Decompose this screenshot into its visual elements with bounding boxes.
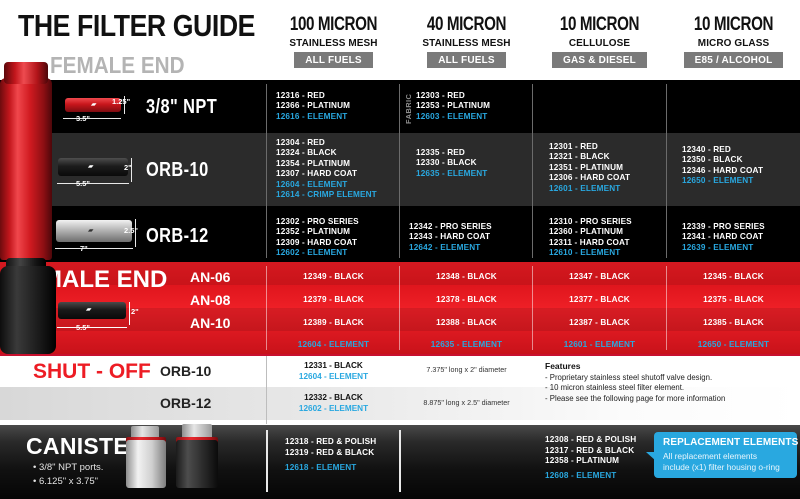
column-divider (266, 356, 267, 424)
part-number: 12360 - PLATINUM (549, 227, 682, 237)
female-end-section: 3/8" NPT ORB-10 ORB-12 FABRIC 12316 - RE… (0, 80, 800, 262)
part-number: 12316 - RED (276, 91, 409, 101)
male-element-3: 12650 - ELEMENT (667, 340, 800, 349)
column-micron: 10 MICRON (546, 14, 652, 36)
part-number: 12308 - RED & POLISH (545, 435, 636, 446)
row-label-shutoff-orb10: ORB-10 (160, 363, 211, 379)
part-number: 12351 - PLATINUM (549, 163, 682, 173)
column-divider (266, 430, 268, 492)
male-part-2-0: 12389 - BLACK (267, 318, 400, 327)
product-photo-canister-black (176, 440, 218, 488)
male-part-0-0: 12349 - BLACK (267, 272, 400, 281)
section-title-shutoff: SHUT - OFF (33, 360, 151, 384)
column-fuel-badge: E85 / ALCOHOL (684, 52, 784, 68)
callout-body: All replacement elements include (x1) fi… (663, 451, 780, 472)
features-block: Features - Proprietary stainless steel s… (545, 361, 725, 404)
part-cell-orb10-100: 12304 - RED 12324 - BLACK 12354 - PLATIN… (276, 138, 409, 200)
part-number-element: 12604 - ELEMENT (267, 372, 400, 383)
part-number: 12330 - BLACK (416, 158, 549, 168)
filter-image-orb10: ▰ (58, 158, 128, 176)
part-number: 12309 - HARD COAT (276, 238, 409, 248)
replacement-elements-callout: REPLACEMENT ELEMENTS All replacement ele… (654, 432, 797, 478)
dimension-diameter-orb12: 2.5" (124, 226, 138, 235)
aeromotive-logo-icon: ▰ (86, 306, 91, 313)
aeromotive-logo-icon: ▰ (88, 227, 93, 234)
part-number: 12358 - PLATINUM (545, 456, 636, 467)
column-fuel-badge: ALL FUELS (427, 52, 506, 68)
product-photo-female-cap (4, 62, 48, 84)
dimension-diameter-male: 2" (131, 307, 139, 316)
row-label-orb10: ORB-10 (146, 159, 209, 182)
header: THE FILTER GUIDE FEMALE END 100 MICRON S… (0, 0, 800, 80)
column-media: MICRO GLASS (670, 37, 796, 49)
part-cell-orb12-10cell: 12310 - PRO SERIES 12360 - PLATINUM 1231… (549, 217, 682, 259)
part-number-element: 12604 - ELEMENT (276, 180, 409, 190)
row-label-shutoff-orb12: ORB-12 (160, 395, 211, 411)
product-photo-female-bottle (0, 78, 52, 260)
part-number: 12341 - HARD COAT (682, 232, 800, 242)
part-number: 12302 - PRO SERIES (276, 217, 409, 227)
part-number: 12335 - RED (416, 148, 549, 158)
part-cell-orb10-10glass: 12340 - RED 12350 - BLACK 12346 - HARD C… (682, 145, 800, 187)
row-label-orb12: ORB-12 (146, 225, 209, 248)
part-number: 12342 - PRO SERIES (409, 222, 542, 232)
column-media: STAINLESS MESH (270, 37, 396, 49)
feature-item: - Please see the following page for more… (545, 394, 725, 405)
column-media: STAINLESS MESH (403, 37, 529, 49)
part-number: 12307 - HARD COAT (276, 169, 409, 179)
section-title-male-end: MALE END (42, 266, 167, 294)
part-cell-orb12-40: 12342 - PRO SERIES 12343 - HARD COAT 126… (409, 222, 542, 253)
part-number-element: 12602 - ELEMENT (267, 404, 400, 415)
part-number: 12339 - PRO SERIES (682, 222, 800, 232)
page-title: THE FILTER GUIDE (18, 8, 255, 44)
shutoff-section: SHUT - OFF ORB-10 ORB-12 12331 - BLACK 1… (0, 354, 800, 425)
male-element-0: 12604 - ELEMENT (267, 340, 400, 349)
part-cell-orb10-10cell: 12301 - RED 12321 - BLACK 12351 - PLATIN… (549, 142, 682, 194)
dimension-line (55, 248, 133, 249)
part-number-element: 12601 - ELEMENT (549, 184, 682, 194)
shutoff-dimension-orb10: 7.375" long x 2" diameter (400, 365, 533, 374)
part-number-element: 12602 - ELEMENT (276, 248, 409, 258)
part-number: 12301 - RED (549, 142, 682, 152)
section-title-female-end: FEMALE END (50, 52, 185, 79)
part-number: 12321 - BLACK (549, 152, 682, 162)
feature-item: - Proprietary stainless steel shutoff va… (545, 373, 725, 384)
column-fuel-badge: GAS & DIESEL (552, 52, 647, 68)
male-part-2-1: 12388 - BLACK (400, 318, 533, 327)
column-micron: 10 MICRON (680, 14, 786, 36)
male-part-1-1: 12378 - BLACK (400, 295, 533, 304)
part-number: 12346 - HARD COAT (682, 166, 800, 176)
feature-item: - 10 micron stainless steel filter eleme… (545, 383, 725, 394)
part-number-element: 12616 - ELEMENT (276, 112, 409, 122)
part-number: 12352 - PLATINUM (276, 227, 409, 237)
aeromotive-logo-icon: ▰ (91, 101, 96, 108)
section-divider-red (0, 354, 800, 356)
features-title: Features (545, 361, 725, 371)
part-number-element: 12614 - CRIMP ELEMENT (276, 190, 409, 200)
column-header-3: 10 MICRON MICRO GLASS E85 / ALCOHOL (667, 14, 800, 68)
dimension-diameter-orb10: 2" (124, 163, 132, 172)
row-label-an10: AN-10 (190, 315, 230, 331)
dimension-length-orb12: 7" (80, 244, 88, 253)
male-element-1: 12635 - ELEMENT (400, 340, 533, 349)
canister-parts-col3: 12308 - RED & POLISH 12317 - RED & BLACK… (545, 435, 636, 481)
product-photo-canister-silver (126, 440, 166, 488)
filter-image-male: ▰ (58, 302, 126, 319)
part-number: 12311 - HARD COAT (549, 238, 682, 248)
male-element-2: 12601 - ELEMENT (533, 340, 666, 349)
dimension-line (57, 327, 127, 328)
part-number: 12303 - RED (416, 91, 549, 101)
column-micron: 100 MICRON (280, 14, 386, 36)
part-cell-npt-40: 12303 - RED 12353 - PLATINUM 12603 - ELE… (416, 91, 549, 122)
part-number-element: 12642 - ELEMENT (409, 243, 542, 253)
part-number-element: 12639 - ELEMENT (682, 243, 800, 253)
dimension-diameter-npt: 1.25" (112, 97, 130, 106)
part-cell-orb10-40: 12335 - RED 12330 - BLACK 12635 - ELEMEN… (416, 148, 549, 179)
filter-image-orb12: ▰ (56, 220, 132, 242)
part-number-element: 12635 - ELEMENT (416, 169, 549, 179)
part-number: 12304 - RED (276, 138, 409, 148)
shutoff-parts-orb10: 12331 - BLACK 12604 - ELEMENT (267, 361, 400, 382)
column-divider (399, 430, 401, 492)
male-part-1-2: 12377 - BLACK (533, 295, 666, 304)
part-number-element: 12608 - ELEMENT (545, 471, 636, 482)
dimension-length-male: 5.5" (76, 323, 90, 332)
part-number-element: 12603 - ELEMENT (416, 112, 549, 122)
dimension-length-npt: 3.5" (76, 114, 90, 123)
part-number: 12310 - PRO SERIES (549, 217, 682, 227)
canister-bullet-0: • 3/8" NPT ports. (33, 462, 103, 473)
row-label-an06: AN-06 (190, 269, 230, 285)
part-number-element: 12618 - ELEMENT (285, 463, 376, 474)
part-number: 12306 - HARD COAT (549, 173, 682, 183)
dimension-length-orb10: 5.5" (76, 179, 90, 188)
part-number: 12340 - RED (682, 145, 800, 155)
part-number: 12332 - BLACK (267, 393, 400, 404)
column-header-0: 100 MICRON STAINLESS MESH ALL FUELS (267, 14, 400, 68)
canister-parts-col1: 12318 - RED & POLISH 12319 - RED & BLACK… (285, 437, 376, 474)
part-cell-npt-100: 12316 - RED 12366 - PLATINUM 12616 - ELE… (276, 91, 409, 122)
product-photo-male-fitting (0, 266, 56, 354)
dimension-line (129, 302, 130, 325)
part-number: 12331 - BLACK (267, 361, 400, 372)
callout-line-1: All replacement elements (663, 451, 780, 462)
shutoff-parts-orb12: 12332 - BLACK 12602 - ELEMENT (267, 393, 400, 414)
male-part-1-3: 12375 - BLACK (667, 295, 800, 304)
part-number-element: 12650 - ELEMENT (682, 176, 800, 186)
part-number: 12324 - BLACK (276, 148, 409, 158)
dimension-line (63, 118, 121, 119)
part-cell-orb12-100: 12302 - PRO SERIES 12352 - PLATINUM 1230… (276, 217, 409, 259)
part-number-element: 12610 - ELEMENT (549, 248, 682, 258)
dimension-line (57, 183, 129, 184)
column-header-2: 10 MICRON CELLULOSE GAS & DIESEL (533, 14, 666, 68)
part-cell-orb12-10glass: 12339 - PRO SERIES 12341 - HARD COAT 126… (682, 222, 800, 253)
male-part-2-2: 12387 - BLACK (533, 318, 666, 327)
male-part-2-3: 12385 - BLACK (667, 318, 800, 327)
part-number: 12318 - RED & POLISH (285, 437, 376, 448)
callout-line-2: include (x1) filter housing o-ring (663, 462, 780, 473)
canister-bullet-1: • 6.125" x 3.75" (33, 476, 98, 487)
column-header-1: 40 MICRON STAINLESS MESH ALL FUELS (400, 14, 533, 68)
part-number: 12354 - PLATINUM (276, 159, 409, 169)
male-part-0-3: 12345 - BLACK (667, 272, 800, 281)
column-divider (266, 84, 267, 258)
male-part-0-2: 12347 - BLACK (533, 272, 666, 281)
aeromotive-logo-icon: ▰ (88, 163, 93, 170)
row-label-an08: AN-08 (190, 292, 230, 308)
part-number: 12317 - RED & BLACK (545, 446, 636, 457)
male-part-1-0: 12379 - BLACK (267, 295, 400, 304)
part-number: 12350 - BLACK (682, 155, 800, 165)
filter-guide-page: THE FILTER GUIDE FEMALE END 100 MICRON S… (0, 0, 800, 499)
column-micron: 40 MICRON (413, 14, 519, 36)
part-number: 12366 - PLATINUM (276, 101, 409, 111)
shutoff-dimension-orb12: 8.875" long x 2.5" diameter (400, 398, 533, 407)
part-number: 12319 - RED & BLACK (285, 448, 376, 459)
part-number: 12353 - PLATINUM (416, 101, 549, 111)
male-part-0-1: 12348 - BLACK (400, 272, 533, 281)
part-number: 12343 - HARD COAT (409, 232, 542, 242)
column-media: CELLULOSE (536, 37, 662, 49)
column-fuel-badge: ALL FUELS (294, 52, 373, 68)
callout-title: REPLACEMENT ELEMENTS (663, 437, 798, 448)
row-label-npt: 3/8" NPT (146, 96, 217, 119)
